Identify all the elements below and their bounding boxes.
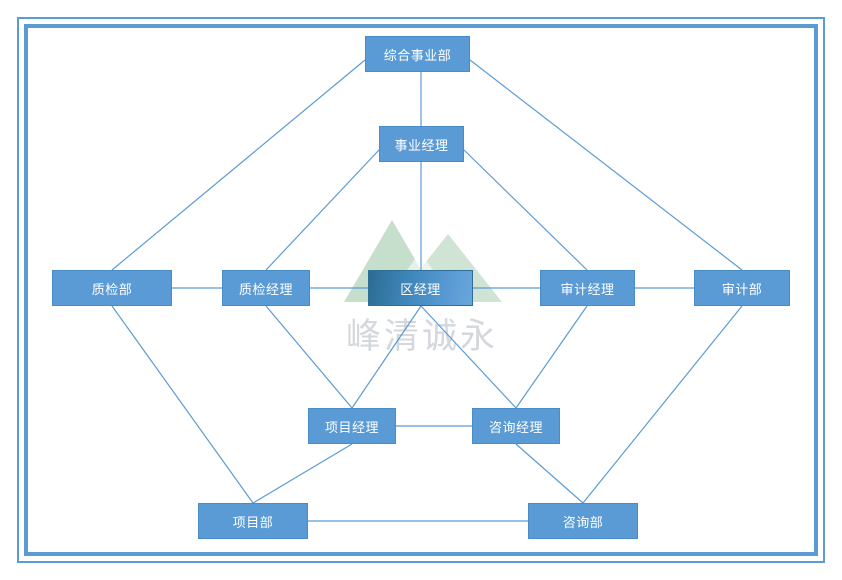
node-zhijian_dept[interactable]: 质检部 (52, 270, 172, 306)
node-zixun_dept[interactable]: 咨询部 (528, 503, 638, 539)
node-label: 咨询经理 (489, 417, 543, 436)
node-zixun_mgr[interactable]: 咨询经理 (472, 408, 560, 444)
node-label: 质检部 (92, 279, 133, 298)
node-shenji_mgr[interactable]: 审计经理 (540, 270, 635, 306)
node-xiangmu_dept[interactable]: 项目部 (198, 503, 308, 539)
node-shiye_mgr[interactable]: 事业经理 (379, 126, 464, 162)
node-label: 审计部 (722, 279, 763, 298)
node-label: 咨询部 (563, 512, 604, 531)
node-qu_mgr[interactable]: 区经理 (368, 270, 473, 306)
node-xiangmu_mgr[interactable]: 项目经理 (308, 408, 396, 444)
node-label: 区经理 (400, 279, 441, 298)
node-label: 综合事业部 (384, 45, 452, 64)
node-label: 项目部 (233, 512, 274, 531)
node-zonghe[interactable]: 综合事业部 (365, 36, 470, 72)
node-label: 质检经理 (239, 279, 293, 298)
node-shenji_dept[interactable]: 审计部 (694, 270, 790, 306)
org-chart-canvas: 峰清诚永 综合事业部事业经理质检部质检经理区经理审计经理审计部项目经理咨询经理项… (0, 0, 842, 580)
node-label: 审计经理 (560, 279, 614, 298)
node-label: 项目经理 (325, 417, 379, 436)
node-zhijian_mgr[interactable]: 质检经理 (222, 270, 310, 306)
node-label: 事业经理 (394, 135, 448, 154)
